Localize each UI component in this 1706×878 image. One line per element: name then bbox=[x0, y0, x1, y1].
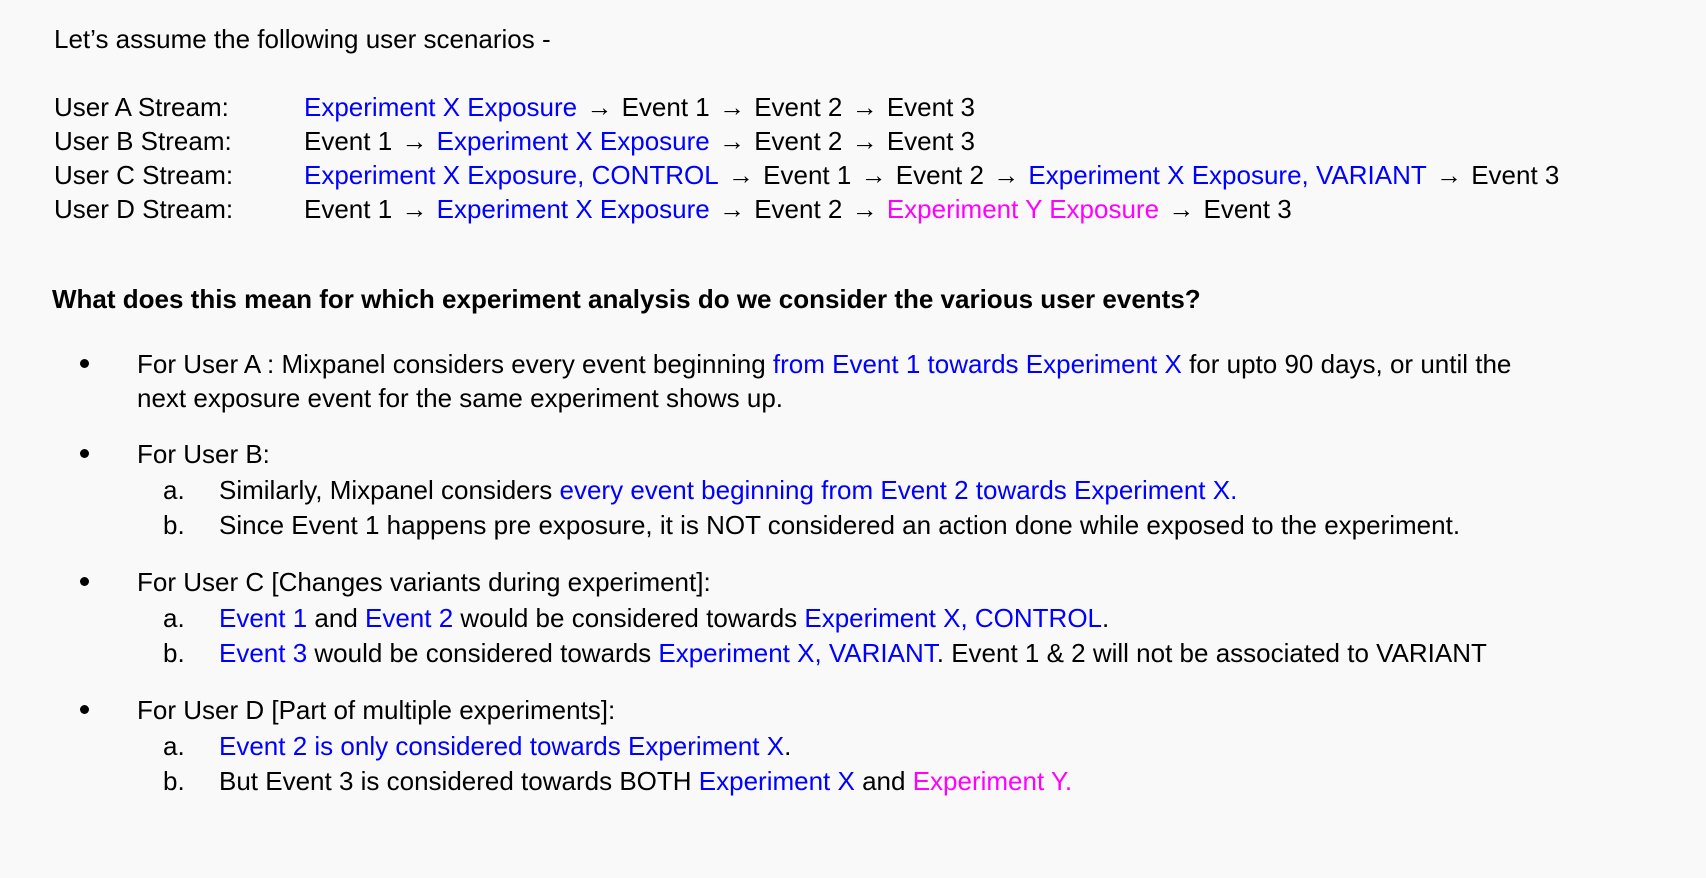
bullet-text: For User D [Part of multiple experiments… bbox=[137, 693, 1557, 727]
sub-list-text: But Event 3 is considered towards BOTH E… bbox=[219, 766, 1072, 796]
sub-list-item: a.Event 2 is only considered towards Exp… bbox=[0, 729, 1706, 764]
text-run: Experiment X, VARIANT bbox=[658, 638, 936, 668]
text-run: Experiment X Exposure bbox=[437, 194, 710, 224]
arrow-icon: → bbox=[851, 160, 895, 190]
document-page: Let’s assume the following user scenario… bbox=[0, 0, 1706, 878]
sub-list-text: Since Event 1 happens pre exposure, it i… bbox=[219, 510, 1460, 540]
text-run: Event 3 bbox=[1471, 160, 1559, 190]
sub-list-text: Similarly, Mixpanel considers every even… bbox=[219, 475, 1237, 505]
text-run: Event 3 bbox=[887, 92, 975, 122]
text-run: every event beginning from Event 2 towar… bbox=[560, 475, 1238, 505]
text-run: Event 1 bbox=[622, 92, 710, 122]
arrow-icon: → bbox=[710, 92, 754, 122]
stream-sequence: Event 1 → Experiment X Exposure → Event … bbox=[304, 124, 975, 158]
arrow-icon: → bbox=[984, 160, 1028, 190]
sub-list-text: Event 2 is only considered towards Exper… bbox=[219, 731, 791, 761]
arrow-icon: → bbox=[710, 194, 754, 224]
sub-list-marker: a. bbox=[163, 729, 185, 764]
text-run: Event 3 bbox=[219, 638, 307, 668]
text-run: . bbox=[1102, 603, 1109, 633]
text-run: Experiment X Exposure, CONTROL bbox=[304, 160, 719, 190]
stream-sequence: Experiment X Exposure → Event 1 → Event … bbox=[304, 90, 975, 124]
text-run: . bbox=[784, 731, 791, 761]
arrow-icon: → bbox=[842, 126, 886, 156]
intro-line: Let’s assume the following user scenario… bbox=[54, 22, 1706, 56]
arrow-icon: → bbox=[392, 126, 436, 156]
text-run: Event 1 bbox=[304, 194, 392, 224]
text-run: and bbox=[855, 766, 913, 796]
text-run: . Event 1 & 2 will not be associated to … bbox=[937, 638, 1487, 668]
text-run: Similarly, Mixpanel considers bbox=[219, 475, 560, 505]
stream-label: User A Stream: bbox=[54, 90, 304, 124]
bullet-item: For User B: bbox=[0, 437, 1706, 471]
sub-list-text: Event 1 and Event 2 would be considered … bbox=[219, 603, 1109, 633]
bullet-block: For User C [Changes variants during expe… bbox=[0, 565, 1706, 671]
bullet-block: For User B:a.Similarly, Mixpanel conside… bbox=[0, 437, 1706, 543]
text-run: For User C [Changes variants during expe… bbox=[137, 567, 711, 597]
text-run: For User B: bbox=[137, 439, 270, 469]
stream-row: User B Stream:Event 1 → Experiment X Exp… bbox=[54, 124, 1706, 158]
stream-row: User A Stream:Experiment X Exposure → Ev… bbox=[54, 90, 1706, 124]
text-run: Experiment X bbox=[699, 766, 855, 796]
bullet-dot-icon bbox=[80, 705, 89, 714]
text-run: Event 2 is only considered towards Exper… bbox=[219, 731, 784, 761]
sub-list-marker: b. bbox=[163, 636, 185, 671]
arrow-icon: → bbox=[1427, 160, 1471, 190]
stream-row: User D Stream:Event 1 → Experiment X Exp… bbox=[54, 192, 1706, 226]
stream-label: User D Stream: bbox=[54, 192, 304, 226]
bullet-dot-icon bbox=[80, 359, 89, 368]
text-run: For User A : Mixpanel considers every ev… bbox=[137, 349, 773, 379]
bullet-item: For User C [Changes variants during expe… bbox=[0, 565, 1706, 599]
bullet-dot-icon bbox=[80, 577, 89, 586]
sub-list-item: b.Since Event 1 happens pre exposure, it… bbox=[0, 508, 1706, 543]
bullet-block: For User D [Part of multiple experiments… bbox=[0, 693, 1706, 799]
sub-list-marker: a. bbox=[163, 473, 185, 508]
stream-sequence: Experiment X Exposure, CONTROL → Event 1… bbox=[304, 158, 1559, 192]
sub-list: a.Event 1 and Event 2 would be considere… bbox=[0, 601, 1706, 671]
arrow-icon: → bbox=[1159, 194, 1203, 224]
arrow-icon: → bbox=[392, 194, 436, 224]
user-streams-block: User A Stream:Experiment X Exposure → Ev… bbox=[54, 90, 1706, 226]
text-run: Event 1 bbox=[763, 160, 851, 190]
text-run: Experiment Y. bbox=[913, 766, 1072, 796]
sub-list-marker: a. bbox=[163, 601, 185, 636]
sub-list-item: b.But Event 3 is considered towards BOTH… bbox=[0, 764, 1706, 799]
text-run: Event 2 bbox=[754, 194, 842, 224]
text-run: Event 2 bbox=[754, 92, 842, 122]
text-run: from Event 1 towards Experiment X bbox=[773, 349, 1182, 379]
sub-list-marker: b. bbox=[163, 508, 185, 543]
text-run: would be considered towards bbox=[307, 638, 658, 668]
arrow-icon: → bbox=[842, 92, 886, 122]
bullet-dot-icon bbox=[80, 449, 89, 458]
sub-list: a.Similarly, Mixpanel considers every ev… bbox=[0, 473, 1706, 543]
bullet-text: For User C [Changes variants during expe… bbox=[137, 565, 1557, 599]
text-run: Experiment X Exposure bbox=[437, 126, 710, 156]
arrow-icon: → bbox=[710, 126, 754, 156]
text-run: But Event 3 is considered towards BOTH bbox=[219, 766, 699, 796]
stream-sequence: Event 1 → Experiment X Exposure → Event … bbox=[304, 192, 1292, 226]
arrow-icon: → bbox=[842, 194, 886, 224]
text-run: Event 3 bbox=[887, 126, 975, 156]
arrow-icon: → bbox=[577, 92, 621, 122]
sub-list-item: a.Similarly, Mixpanel considers every ev… bbox=[0, 473, 1706, 508]
stream-label: User B Stream: bbox=[54, 124, 304, 158]
text-run: Event 3 bbox=[1203, 194, 1291, 224]
section-question: What does this mean for which experiment… bbox=[52, 283, 1706, 315]
text-run: would be considered towards bbox=[453, 603, 804, 633]
stream-label: User C Stream: bbox=[54, 158, 304, 192]
text-run: Since Event 1 happens pre exposure, it i… bbox=[219, 510, 1460, 540]
text-run: Experiment X, CONTROL bbox=[804, 603, 1102, 633]
text-run: Event 2 bbox=[896, 160, 984, 190]
analysis-bullet-list: For User A : Mixpanel considers every ev… bbox=[0, 347, 1706, 799]
text-run: Experiment X Exposure bbox=[304, 92, 577, 122]
bullet-item: For User D [Part of multiple experiments… bbox=[0, 693, 1706, 727]
text-run: and bbox=[307, 603, 365, 633]
text-run: Event 1 bbox=[219, 603, 307, 633]
text-run: Experiment X Exposure, VARIANT bbox=[1028, 160, 1426, 190]
text-run: For User D [Part of multiple experiments… bbox=[137, 695, 615, 725]
bullet-text: For User A : Mixpanel considers every ev… bbox=[137, 347, 1557, 415]
sub-list-text: Event 3 would be considered towards Expe… bbox=[219, 638, 1487, 668]
sub-list-item: b.Event 3 would be considered towards Ex… bbox=[0, 636, 1706, 671]
sub-list-item: a.Event 1 and Event 2 would be considere… bbox=[0, 601, 1706, 636]
text-run: Experiment Y Exposure bbox=[887, 194, 1159, 224]
bullet-text: For User B: bbox=[137, 437, 1557, 471]
arrow-icon: → bbox=[719, 160, 763, 190]
bullet-block: For User A : Mixpanel considers every ev… bbox=[0, 347, 1706, 415]
text-run: Event 1 bbox=[304, 126, 392, 156]
sub-list: a.Event 2 is only considered towards Exp… bbox=[0, 729, 1706, 799]
text-run: Event 2 bbox=[754, 126, 842, 156]
bullet-item: For User A : Mixpanel considers every ev… bbox=[0, 347, 1706, 415]
sub-list-marker: b. bbox=[163, 764, 185, 799]
stream-row: User C Stream:Experiment X Exposure, CON… bbox=[54, 158, 1706, 192]
text-run: Event 2 bbox=[365, 603, 453, 633]
